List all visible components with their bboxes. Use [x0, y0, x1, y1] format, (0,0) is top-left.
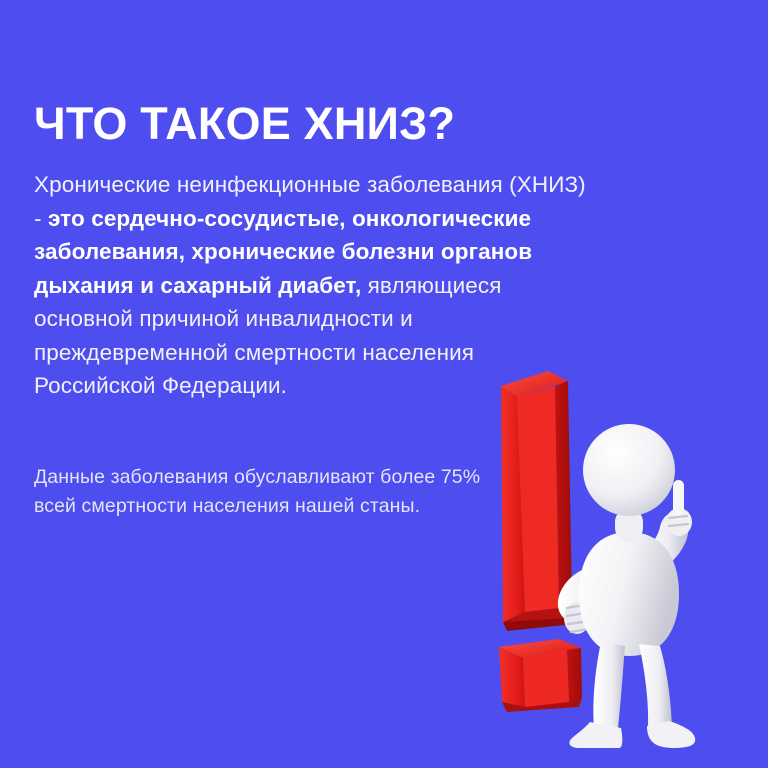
statistic-note: Данные заболевания обуславливают более 7… [34, 463, 504, 521]
illustration [455, 350, 768, 768]
slide-root: ЧТО ТАКОЕ ХНИЗ? Хронические неинфекционн… [0, 0, 768, 768]
illustration-svg [455, 350, 768, 768]
head-icon [583, 424, 675, 516]
page-title: ЧТО ТАКОЕ ХНИЗ? [34, 99, 724, 149]
right-foot-icon [647, 721, 695, 748]
exclamation-dot-icon [499, 639, 582, 712]
